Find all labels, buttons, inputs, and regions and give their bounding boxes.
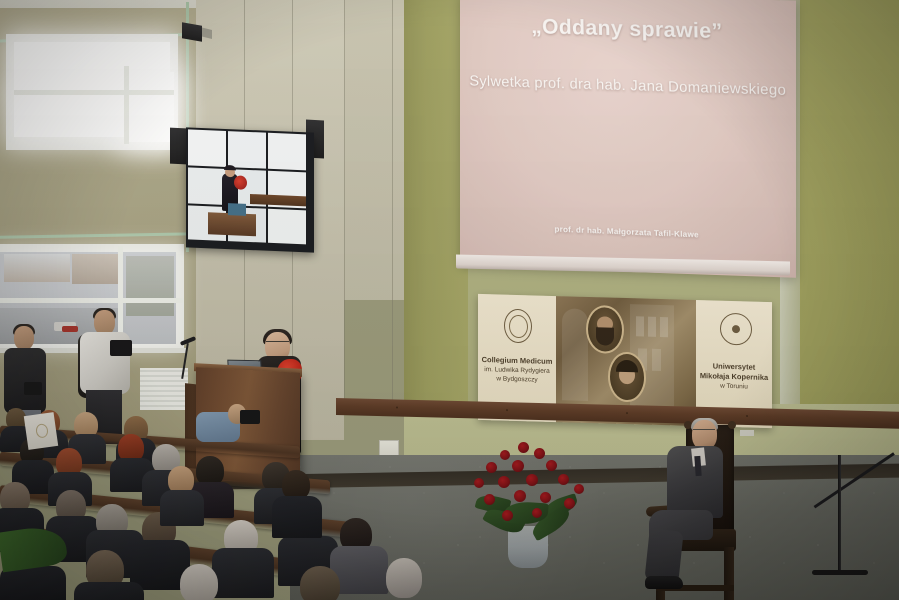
window-mullion: [124, 66, 129, 144]
camera-icon: [110, 340, 132, 356]
audience-head: [180, 564, 218, 600]
program-booklet: [24, 412, 58, 450]
feed-lectern: [208, 212, 256, 236]
portrait-rydygier: [586, 305, 624, 354]
rose: [518, 442, 529, 453]
video-wall-feed: [188, 129, 308, 246]
rose: [498, 476, 510, 488]
rose: [558, 474, 569, 485]
window-view-trees: [126, 256, 174, 316]
rose: [514, 490, 526, 502]
collage-window: [648, 317, 656, 337]
camera-icon: [24, 382, 42, 395]
banner-umk-line2: Mikołaja Kopernika: [696, 372, 772, 383]
honoree-shoe: [645, 576, 683, 589]
audience-head: [300, 566, 340, 600]
seal-sun-center: [732, 325, 740, 333]
audience-body: [160, 490, 204, 526]
wall-panel-seam: [344, 0, 345, 410]
collegium-seal-icon: [504, 309, 532, 344]
feed-chair: [228, 203, 246, 216]
banner-collegium-line1: Collegium Medicum: [478, 356, 556, 367]
photographer-head: [14, 326, 34, 350]
wall-speaker-left: [170, 128, 186, 165]
rose: [546, 460, 557, 471]
rose: [526, 474, 538, 486]
portrait-kopernik: [608, 352, 646, 403]
boom-microphone-stand: [838, 455, 841, 573]
booklet-emblem: [35, 423, 49, 439]
rose: [564, 498, 575, 509]
banner-collegium-line3: w Bydgoszczy: [478, 375, 556, 386]
rose: [484, 494, 495, 505]
rose: [502, 510, 513, 521]
rose: [534, 448, 545, 459]
banner-umk-line3: w Toruniu: [696, 382, 772, 393]
lecture-hall-photo: „Oddany sprawie” Sylwetka prof. dra hab.…: [0, 0, 899, 600]
portrait-beard: [596, 327, 614, 346]
ceiling-speaker: [182, 22, 202, 42]
window-pane: [128, 72, 174, 142]
rose: [540, 492, 551, 503]
slide-subtitle: Sylwetka prof. dra hab. Jana Domaniewski…: [460, 71, 796, 102]
wall-olive-right: [800, 0, 899, 470]
projection-screen: „Oddany sprawie” Sylwetka prof. dra hab.…: [460, 0, 790, 266]
camera-icon: [240, 410, 260, 424]
video-wall: [186, 127, 314, 252]
slide-credit: prof. dr hab. Małgorzata Tafil-Klawe: [460, 221, 796, 243]
audience-body: [74, 582, 144, 600]
audience: [0, 408, 420, 600]
collage-window: [660, 317, 668, 337]
audience-body: [272, 496, 322, 538]
rose: [474, 478, 484, 488]
copernicus-sun-seal-icon: [720, 313, 752, 346]
window-view-buildings: [72, 254, 118, 284]
seal-inner: [509, 315, 528, 339]
collage-window: [636, 316, 644, 336]
presenter-glasses: [266, 341, 289, 346]
rose: [512, 460, 524, 472]
collage-window: [652, 349, 661, 371]
portrait-hair: [616, 360, 638, 373]
seated-honoree: [645, 418, 745, 593]
audience-body: [212, 548, 274, 598]
rose: [486, 462, 497, 473]
window-mullion: [0, 298, 184, 303]
feed-speaker-hair: [224, 165, 236, 171]
rose-bouquet: [470, 440, 592, 570]
feed-red-scarf: [234, 175, 247, 190]
feed-wall-rail: [250, 194, 306, 206]
collage-architecture: [562, 308, 588, 401]
wall-panel-seam: [392, 0, 393, 400]
rose: [532, 508, 542, 518]
window-mullion: [14, 90, 174, 95]
slide-title: „Oddany sprawie”: [460, 13, 796, 46]
rose: [500, 450, 510, 460]
rose: [574, 484, 584, 494]
audience-head: [386, 558, 422, 598]
microphone-base: [812, 570, 868, 575]
window-view-buildings: [4, 254, 70, 282]
photographer-jacket: [4, 348, 46, 414]
honoree-glasses: [693, 429, 715, 433]
projection-surface: „Oddany sprawie” Sylwetka prof. dra hab.…: [460, 0, 796, 278]
